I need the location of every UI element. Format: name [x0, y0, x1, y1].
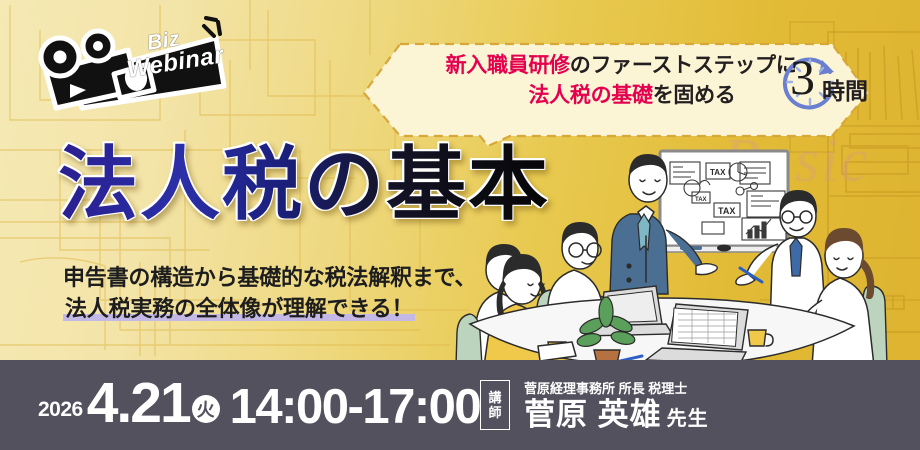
callout-line-2-highlight: 法人税の基礎: [528, 84, 652, 107]
speaker-affiliation: 菅原経理事務所 所長 税理士: [524, 378, 709, 397]
event-date: 2026 4.21 火 14:00-17:00: [38, 376, 480, 431]
event-year: 2026: [38, 398, 83, 431]
callout-line-1-highlight: 新入職員研修: [446, 54, 570, 77]
duration-unit: 時間: [822, 72, 868, 106]
callout-line-1-rest: のファーストステップに: [570, 54, 797, 77]
meeting-illustration: .ln{fill:none;stroke:#2b2b2b;stroke-widt…: [452, 118, 920, 366]
speaker-info: 菅原経理事務所 所長 税理士 菅原 英雄先生: [524, 378, 709, 432]
speaker-badge: 講 師: [480, 380, 510, 430]
subtitle: 申告書の構造から基礎的な税法解釈まで、 法人税実務の全体像が理解できる！: [63, 262, 476, 324]
biz-webinar-logo: Biz Webinar: [18, 12, 230, 112]
webinar-banner: Basic: [0, 0, 920, 450]
subtitle-line-2: 法人税実務の全体像が理解できる！: [63, 296, 415, 321]
duration-number: 3: [790, 52, 815, 102]
svg-text:TAX: TAX: [718, 206, 735, 216]
svg-text:TAX: TAX: [695, 197, 707, 203]
speaker-badge-char-2: 師: [488, 405, 501, 420]
event-day-of-week: 火: [192, 395, 220, 423]
speaker-badge-char-1: 講: [488, 390, 501, 405]
event-info-bar: 2026 4.21 火 14:00-17:00 講 師 菅原経理事務所 所長 税…: [0, 360, 920, 450]
svg-text:TAX: TAX: [710, 168, 726, 177]
callout-line-2-rest: を固める: [653, 84, 736, 107]
subtitle-line-1: 申告書の構造から基礎的な税法解釈まで、: [63, 262, 476, 293]
event-time: 14:00-17:00: [230, 383, 480, 431]
event-month-day: 4.21: [87, 376, 190, 431]
speaker-block: 講 師 菅原経理事務所 所長 税理士 菅原 英雄先生: [480, 378, 709, 432]
speaker-name-row: 菅原 英雄先生: [524, 399, 709, 432]
speaker-honorific: 先生: [667, 408, 709, 430]
speaker-name: 菅原 英雄: [524, 397, 662, 432]
